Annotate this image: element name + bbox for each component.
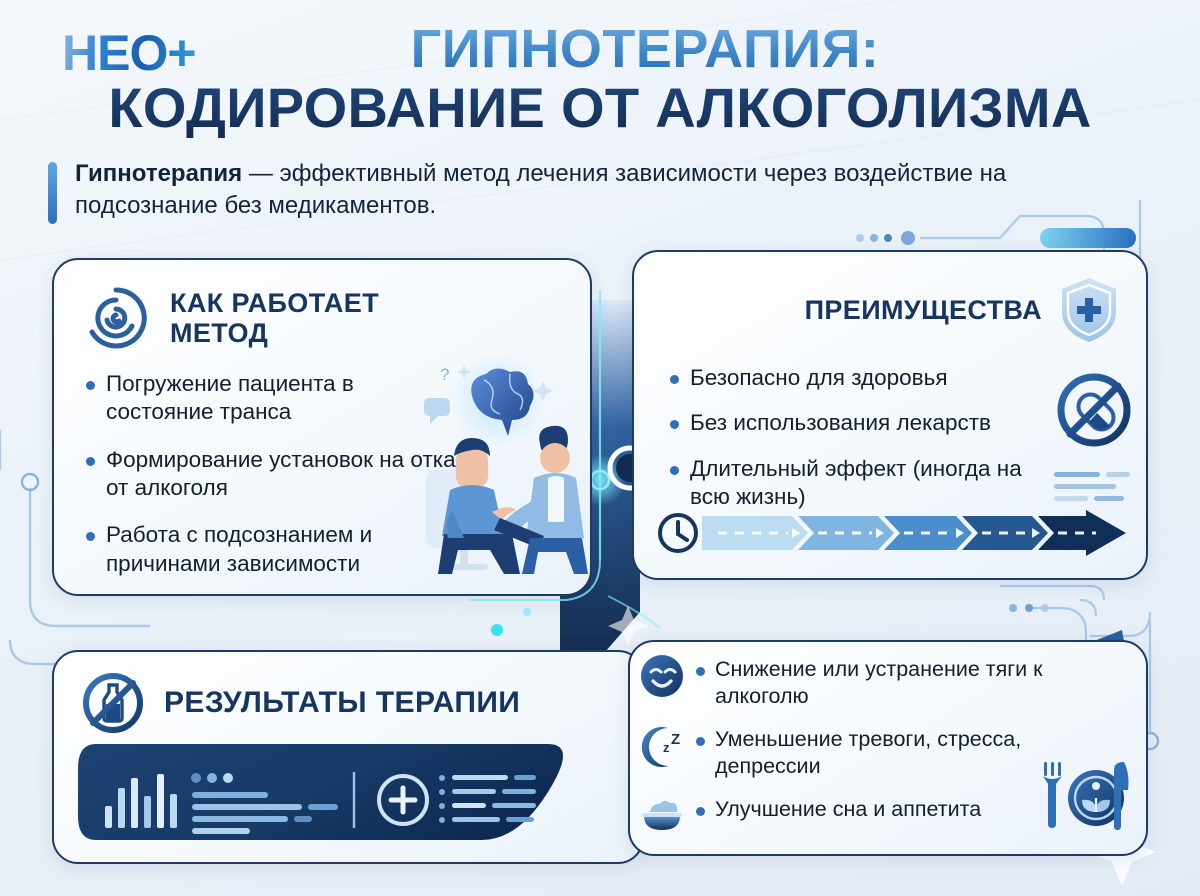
subtitle-text: Гипнотерапия — эффективный метод лечения… <box>75 158 1108 222</box>
page-title: ГИПНОТЕРАПИЯ: КОДИРОВАНИЕ ОТ АЛКОГОЛИЗМА <box>0 22 1200 138</box>
effects-list: Снижение или устранение тяги к алкоголю … <box>638 652 1068 840</box>
list-item: Длительный эффект (иногда на всю жизнь) <box>670 455 1050 512</box>
list-item: Без использования лекарств <box>670 409 1050 437</box>
list-item-label: Длительный эффект (иногда на всю жизнь) <box>690 455 1050 512</box>
list-item: Погружение пациента в состояние транса <box>86 370 466 427</box>
list-item-label: Уменьшение тревоги, стресса, депрессии <box>715 726 1068 780</box>
no-pills-icon <box>1052 368 1136 452</box>
fork-icon <box>1043 762 1062 828</box>
bullet-dot-icon <box>86 457 95 466</box>
bullet-dot-icon <box>670 466 679 475</box>
therapy-session-illustration: ? <box>422 352 632 582</box>
results-header: РЕЗУЛЬТАТЫ ТЕРАПИИ <box>80 670 520 736</box>
subtitle-strong: Гипнотерапия <box>75 160 242 187</box>
spiral-hypnosis-icon <box>80 282 152 354</box>
svg-text:z: z <box>663 740 670 755</box>
bullet-dot-icon <box>696 737 705 746</box>
moon-sleep-icon: z Z <box>638 722 686 770</box>
benefits-title: ПРЕИМУЩЕСТВА <box>805 295 1042 326</box>
results-title: РЕЗУЛЬТАТЫ ТЕРАПИИ <box>164 686 520 720</box>
list-item-label: Улучшение сна и аппетита <box>715 796 981 823</box>
benefits-header: ПРЕИМУЩЕСТВА <box>805 276 1120 344</box>
timeline-progress-arrow <box>656 510 1128 556</box>
subtitle: Гипнотерапия — эффективный метод лечения… <box>48 158 1108 224</box>
title-line-1: ГИПНОТЕРАПИЯ: <box>0 22 1200 77</box>
bullet-dot-icon <box>86 532 95 541</box>
no-alcohol-bottle-icon <box>80 670 146 736</box>
list-item: Формирование установок на отказ от алког… <box>86 446 466 503</box>
title-line-2: КОДИРОВАНИЕ ОТ АЛКОГОЛИЗМА <box>0 79 1200 138</box>
method-bullet-list: Погружение пациента в состояние транса Ф… <box>86 370 466 578</box>
list-item: Улучшение сна и аппетита <box>638 792 1068 840</box>
bullet-dot-icon <box>86 381 95 390</box>
card-therapy-results: РЕЗУЛЬТАТЫ ТЕРАПИИ <box>52 650 644 864</box>
list-item-label: Формирование установок на отказ от алког… <box>106 446 466 503</box>
text-lines-decoration <box>1054 470 1132 504</box>
food-bowl-icon <box>638 792 686 840</box>
list-item-label: Без использования лекарств <box>690 409 991 437</box>
method-header: КАК РАБОТАЕТ МЕТОД <box>80 282 470 354</box>
list-item: z Z Уменьшение тревоги, стресса, депресс… <box>638 722 1068 780</box>
list-item: Снижение или устранение тяги к алкоголю <box>638 652 1068 710</box>
bullet-dot-icon <box>670 375 679 384</box>
calm-face-icon <box>638 652 686 700</box>
bullet-dot-icon <box>670 420 679 429</box>
shield-medical-cross-icon <box>1058 276 1120 344</box>
bullet-dot-icon <box>696 667 705 676</box>
list-item-label: Работа с подсознанием и причинами зависи… <box>106 521 466 578</box>
list-item: Работа с подсознанием и причинами зависи… <box>86 521 466 578</box>
speech-bubble-icon <box>424 398 450 416</box>
subtitle-accent-bar <box>48 162 57 224</box>
infographic-root: HEO+ ГИПНОТЕРАПИЯ: КОДИРОВАНИЕ ОТ АЛКОГО… <box>0 0 1200 896</box>
list-item: Безопасно для здоровья <box>670 364 1050 392</box>
card-how-method-works: КАК РАБОТАЕТ МЕТОД Погружение пациента в… <box>52 258 592 596</box>
question-mark-icon: ? <box>440 365 449 384</box>
list-item-label: Погружение пациента в состояние транса <box>106 370 466 427</box>
bullet-dot-icon <box>696 807 705 816</box>
card-benefits: ПРЕИМУЩЕСТВА Безопасно для здоровья <box>632 250 1148 580</box>
method-title: КАК РАБОТАЕТ МЕТОД <box>170 288 470 349</box>
svg-text:Z: Z <box>671 731 680 748</box>
list-item-label: Снижение или устранение тяги к алкоголю <box>715 656 1068 710</box>
results-data-panel <box>78 744 578 844</box>
card-therapy-effects: Снижение или устранение тяги к алкоголю … <box>628 640 1148 856</box>
list-item-label: Безопасно для здоровья <box>690 364 948 392</box>
healthy-food-icon <box>1038 760 1130 832</box>
benefits-bullet-list: Безопасно для здоровья Без использования… <box>670 364 1050 511</box>
